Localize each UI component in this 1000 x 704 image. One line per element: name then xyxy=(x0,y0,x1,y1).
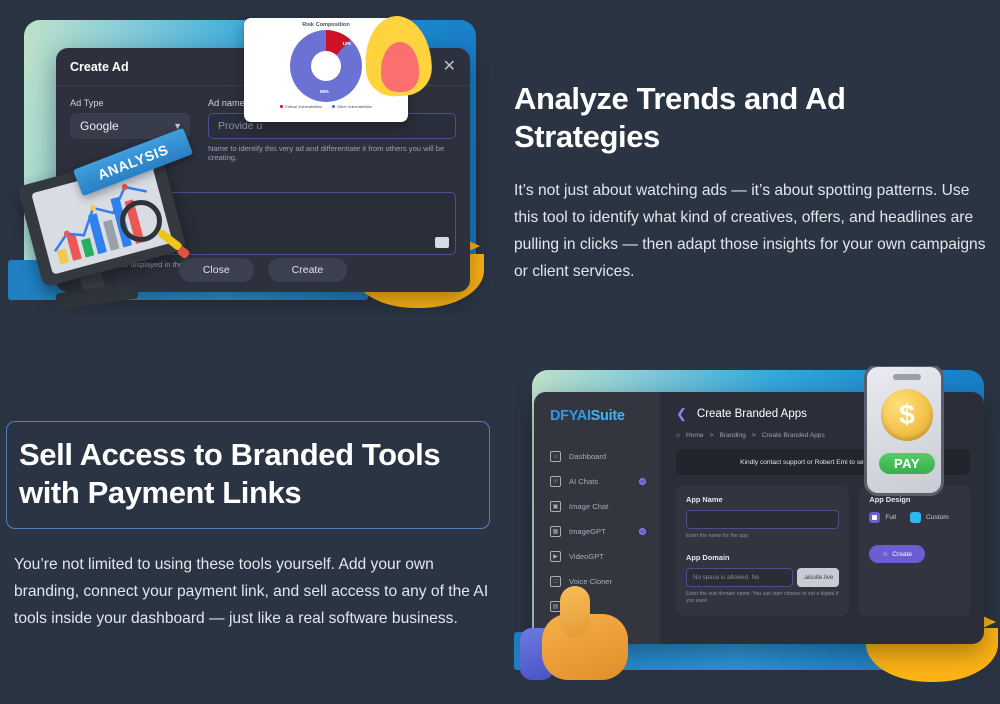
app-domain-row: No space is allowed. No .aisuite.live xyxy=(686,568,839,587)
sell-access-title: Sell Access to Branded Tools with Paymen… xyxy=(19,436,477,512)
create-button[interactable]: Create xyxy=(268,258,348,282)
thumbs-up-icon xyxy=(520,584,638,692)
close-button[interactable]: Close xyxy=(179,258,254,282)
dollar-coin-icon: $ xyxy=(881,389,933,441)
option-label: Full xyxy=(885,514,896,521)
app-domain-input[interactable]: No space is allowed. No xyxy=(686,568,793,587)
robot-icon: ☉ xyxy=(550,476,561,487)
option-label: Custom xyxy=(926,514,949,521)
sidebar-item-ai-chats[interactable]: ☉ AI Chats xyxy=(534,469,660,494)
image-gpt-icon: ▦ xyxy=(550,526,561,537)
breadcrumb-separator: > xyxy=(752,432,756,439)
payment-phone-widget: $ PAY xyxy=(864,366,944,496)
brand-part-2: Suite xyxy=(591,408,625,424)
monitor-chart-icon: ANALYSIS xyxy=(22,148,190,316)
radio-unchecked-icon xyxy=(910,512,921,523)
app-domain-hint: Enter the sub domain name. You can later… xyxy=(686,591,839,606)
form-panels: App Name Enter the name for the app App … xyxy=(676,485,970,616)
magnifying-glass-icon xyxy=(120,200,162,242)
app-design-option-full[interactable]: Full xyxy=(869,512,896,523)
create-label: Create xyxy=(892,551,912,558)
promo-page: Create Ad ✕ Ad Type Google ▼ Ad name xyxy=(0,0,1000,704)
app-design-options: Full Custom xyxy=(869,512,960,523)
analyze-trends-title: Analyze Trends and Ad Strategies xyxy=(514,80,994,156)
sidebar-item-dashboard[interactable]: ⌂ Dashboard xyxy=(534,444,660,469)
branded-apps-illustration: DFYAISuite ⌂ Dashboard ☉ AI Chats ▣ Imag… xyxy=(514,366,1000,704)
sidebar-label: Dashboard xyxy=(569,452,606,461)
pay-button[interactable]: PAY xyxy=(879,453,935,474)
nav-badge xyxy=(639,528,646,535)
legend-item-other: Other Vulnerabilities xyxy=(332,104,372,109)
coin-symbol: $ xyxy=(899,401,915,429)
home-icon: ⌂ xyxy=(550,451,561,462)
sell-access-title-box: Sell Access to Branded Tools with Paymen… xyxy=(6,421,490,529)
legend-label-other: Other Vulnerabilities xyxy=(337,104,372,109)
create-app-button[interactable]: ☆ Create xyxy=(869,545,925,563)
create-ad-illustration: Create Ad ✕ Ad Type Google ▼ Ad name xyxy=(8,8,490,318)
nav-badge xyxy=(639,478,646,485)
phone-notch xyxy=(893,374,921,380)
resize-grip-icon[interactable] xyxy=(435,237,449,248)
sidebar-label: AI Chats xyxy=(569,477,598,486)
sidebar-item-videogpt[interactable]: ▶ VideoGPT xyxy=(534,544,660,569)
ad-name-hint: Name to identify this very ad and differ… xyxy=(208,144,456,162)
sidebar-label: ImageGPT xyxy=(569,527,606,536)
breadcrumb-separator: > xyxy=(710,432,714,439)
ad-type-value: Google xyxy=(80,119,119,133)
chart-legend: Critical Vulnerabilities Other Vulnerabi… xyxy=(280,104,372,109)
breadcrumb-item-branding[interactable]: Branding xyxy=(719,432,745,439)
donut-chart: 12% 88% xyxy=(290,30,362,102)
chevron-left-icon[interactable]: ❮ xyxy=(676,406,687,422)
analyze-trends-block: Analyze Trends and Ad Strategies It’s no… xyxy=(514,80,994,286)
breadcrumb-item-home[interactable]: Home xyxy=(686,432,704,439)
app-details-panel: App Name Enter the name for the app App … xyxy=(676,485,849,616)
fire-emoji-icon xyxy=(365,16,431,96)
home-icon: ⌂ xyxy=(676,432,680,439)
app-design-option-custom[interactable]: Custom xyxy=(910,512,949,523)
legend-item-critical: Critical Vulnerabilities xyxy=(280,104,322,109)
chart-title: Risk Composition xyxy=(302,22,350,28)
sell-access-block: Sell Access to Branded Tools with Paymen… xyxy=(6,421,490,633)
legend-dot-critical xyxy=(280,105,283,108)
app-design-panel: App Design Full Custom xyxy=(859,485,970,616)
donut-hole xyxy=(311,51,341,81)
sidebar-label: VideoGPT xyxy=(569,552,604,561)
page-title: Create Branded Apps xyxy=(697,408,807,420)
app-design-label: App Design xyxy=(869,495,960,504)
ad-type-label: Ad Type xyxy=(70,98,190,108)
app-name-hint: Enter the name for the app xyxy=(686,533,839,541)
slice-label-other: 88% xyxy=(320,89,329,94)
sidebar-item-imagegpt[interactable]: ▦ ImageGPT xyxy=(534,519,660,544)
legend-dot-other xyxy=(332,105,335,108)
video-gpt-icon: ▶ xyxy=(550,551,561,562)
brand-logo: DFYAISuite xyxy=(534,392,660,424)
thumb-finger xyxy=(560,586,590,638)
sidebar-label: Image Chat xyxy=(569,502,608,511)
sparkle-icon: ☆ xyxy=(882,550,888,558)
flame-inner xyxy=(381,42,419,92)
sell-access-body: You’re not limited to using these tools … xyxy=(6,552,490,633)
slice-label-critical: 12% xyxy=(342,41,351,46)
app-domain-placeholder: No space is allowed. No xyxy=(693,574,759,581)
close-icon[interactable]: ✕ xyxy=(443,59,456,75)
brand-part-1: DFYAI xyxy=(550,408,591,424)
analyze-trends-body: It’s not just about watching ads — it’s … xyxy=(514,178,994,286)
sidebar-item-image-chat[interactable]: ▣ Image Chat xyxy=(534,494,660,519)
radio-checked-icon xyxy=(869,512,880,523)
app-name-input[interactable] xyxy=(686,510,839,529)
modal-title: Create Ad xyxy=(70,60,129,74)
image-icon: ▣ xyxy=(550,501,561,512)
app-domain-label: App Domain xyxy=(686,553,839,562)
legend-label-critical: Critical Vulnerabilities xyxy=(285,104,322,109)
app-domain-suffix: .aisuite.live xyxy=(797,568,840,587)
breadcrumb-item-current: Create Branded Apps xyxy=(762,432,825,439)
app-name-label: App Name xyxy=(686,495,839,504)
